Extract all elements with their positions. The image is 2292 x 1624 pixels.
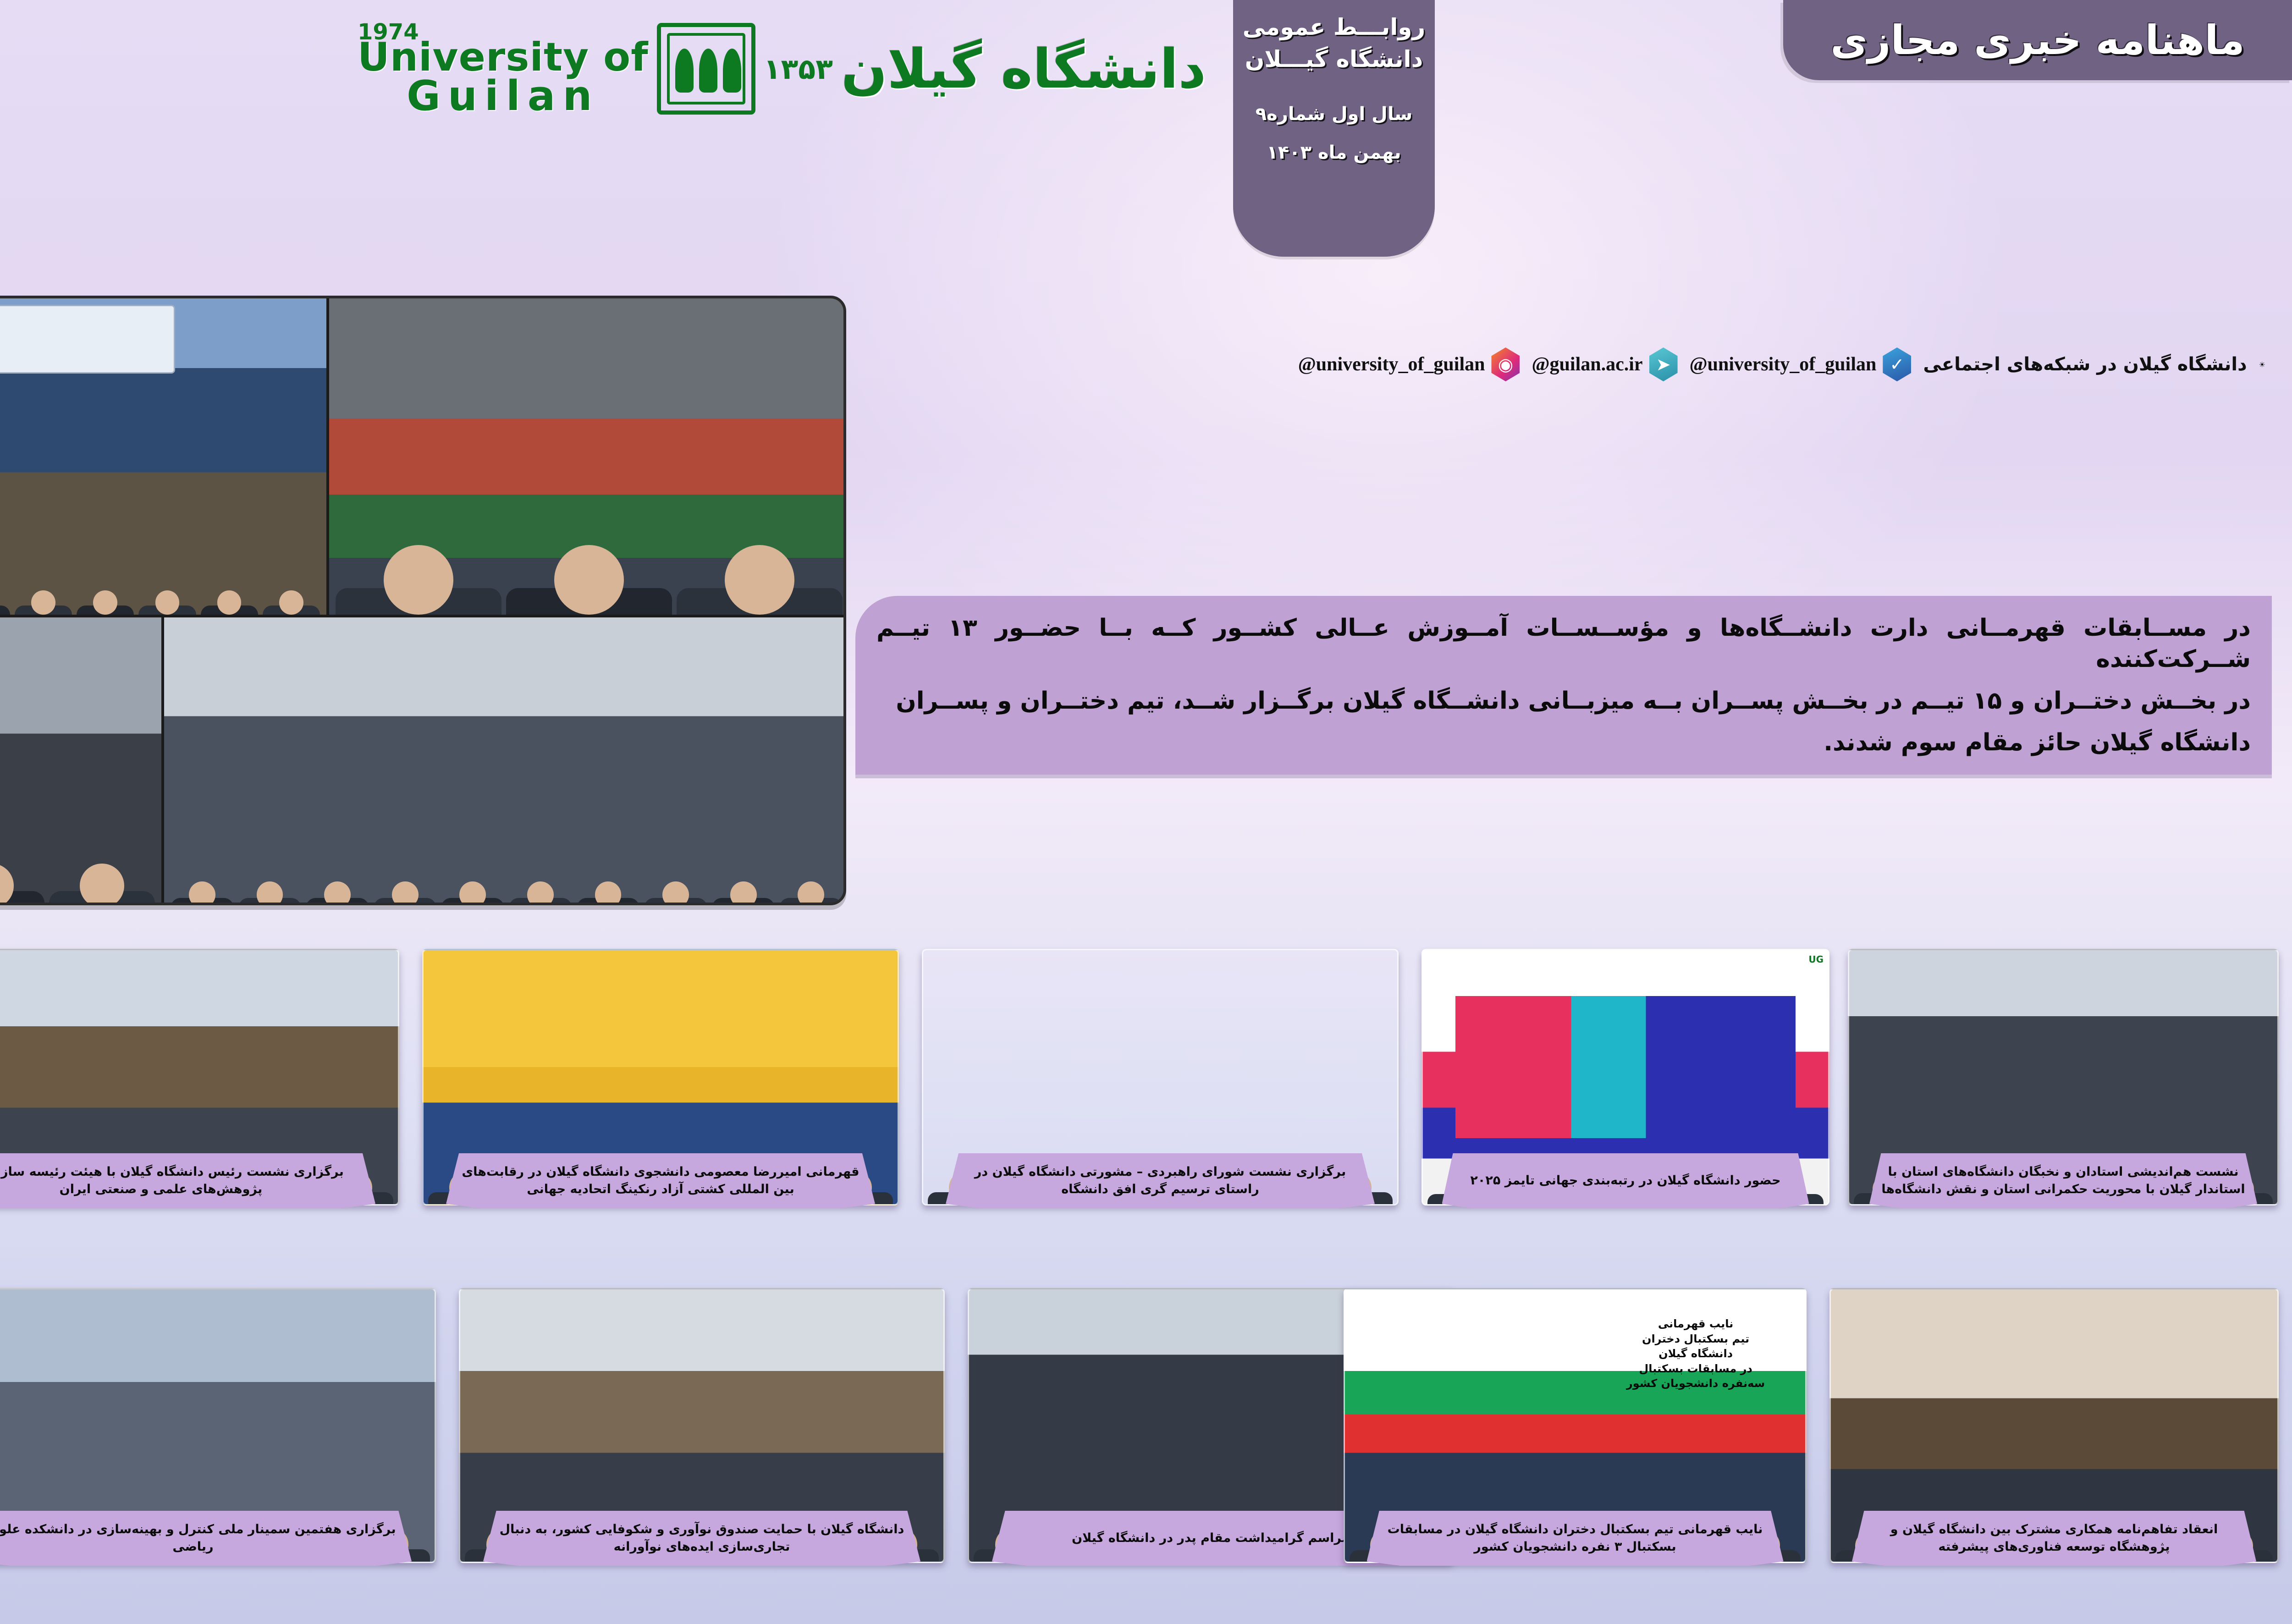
news-card-caption-text: مراسم گرامیداشت مقام پدر در دانشگاه گیلا…	[1072, 1530, 1350, 1547]
telegram-icon: ✓	[1883, 347, 1911, 381]
news-card[interactable]: برگزاری هفتمین سمینار ملی کنترل و بهینه‌…	[0, 1288, 436, 1563]
news-card-overlay: نایب قهرمانیتیم بسکتبال دختراندانشگاه گی…	[1590, 1316, 1802, 1391]
news-card-caption: برگزاری نشست رئیس دانشگاه گیلان با هیئت …	[0, 1153, 375, 1208]
news-card[interactable]: نایب قهرمانیتیم بسکتبال دختراندانشگاه گی…	[1344, 1288, 1807, 1563]
eitaa-handle: @guilan.ac.ir	[1532, 353, 1642, 375]
hero-paragraph-3: دانشگاه گیلان حائز مقام سوم شدند.	[876, 727, 2251, 759]
university-crest-icon	[657, 23, 755, 115]
hero-event-banner	[0, 305, 175, 374]
hero-photo-2	[329, 298, 846, 615]
logo-persian-year: ۱۳۵۳	[764, 52, 833, 86]
hero-paragraph-2: در بخــش دختــران و ۱۵ تیــم در بخــش پس…	[876, 685, 2251, 717]
news-card-overlay-line: دانشگاه گیلان	[1590, 1346, 1802, 1361]
news-card-overlay-line: در مسابقات بسکتبال	[1590, 1361, 1802, 1376]
news-card-caption-text: برگزاری نشست شورای راهبردی – مشورتی دانش…	[953, 1163, 1367, 1199]
news-card-overlay-line: سه‌نفره دانشجویان کشور	[1590, 1376, 1802, 1391]
hero-photo-4	[164, 617, 846, 905]
instagram-handle: @university_of_guilan	[1298, 353, 1485, 375]
news-card-caption: انعقاد تفاهم‌نامه همکاری مشترک بین دانشگ…	[1852, 1511, 2256, 1566]
news-card-caption-text: برگزاری هفتمین سمینار ملی کنترل و بهینه‌…	[0, 1521, 404, 1556]
news-card-caption-text: قهرمانی امیررضا معصومی دانشجوی دانشگاه گ…	[453, 1163, 868, 1199]
hero-photo-collage	[0, 296, 846, 905]
news-card-caption: حضور دانشگاه گیلان در رتبه‌بندی جهانی تا…	[1442, 1153, 1809, 1208]
logo-small-icon: UG	[1808, 954, 1824, 965]
hero-crowd-2	[329, 418, 846, 615]
news-card-caption: قهرمانی امیررضا معصومی دانشجوی دانشگاه گ…	[446, 1153, 875, 1208]
issue-number: سال اول شماره۹	[1256, 104, 1412, 125]
news-card-caption: نشست هم‌اندیشی استادان و نخبگان دانشگاه‌…	[1869, 1153, 2257, 1208]
pr-line-1: روابـــط عمومی	[1243, 14, 1426, 40]
logo-english-line-1: University of	[358, 39, 649, 77]
hero-paragraph-1: در مســابقات قهرمــانی دارت دانشــگاه‌ها…	[876, 612, 2251, 675]
news-card[interactable]: دانشگاه گیلان با حمایت صندوق نوآوری و شک…	[459, 1288, 945, 1563]
news-card[interactable]: برگزاری نشست شورای راهبردی – مشورتی دانش…	[922, 949, 1399, 1206]
news-card[interactable]: برگزاری نشست رئیس دانشگاه گیلان با هیئت …	[0, 949, 399, 1206]
news-card-caption-text: نایب قهرمانی تیم بسکتبال دختران دانشگاه …	[1374, 1521, 1776, 1556]
social-media-bar: ☀ دانشگاه گیلان در شبکه‌های اجتماعی ✓ @u…	[898, 341, 2274, 387]
hero-photo-1	[0, 298, 326, 615]
hero-crowd-1	[0, 418, 326, 615]
issue-date: بهمن ماه ۱۴۰۳	[1267, 142, 1401, 163]
news-card-caption-text: حضور دانشگاه گیلان در رتبه‌بندی جهانی تا…	[1470, 1172, 1780, 1189]
news-card[interactable]: نشست هم‌اندیشی استادان و نخبگان دانشگاه‌…	[1848, 949, 2279, 1206]
globe-icon: ☀	[2259, 360, 2265, 369]
news-card-caption-text: دانشگاه گیلان با حمایت صندوق نوآوری و شک…	[490, 1521, 913, 1556]
news-card-caption: نایب قهرمانی تیم بسکتبال دختران دانشگاه …	[1367, 1511, 1784, 1566]
news-card-caption-text: انعقاد تفاهم‌نامه همکاری مشترک بین دانشگ…	[1859, 1521, 2249, 1556]
news-card-caption: برگزاری نشست شورای راهبردی – مشورتی دانش…	[946, 1153, 1375, 1208]
news-card-overlay-line: تیم بسکتبال دختران	[1590, 1332, 1802, 1346]
social-label: دانشگاه گیلان در شبکه‌های اجتماعی	[1923, 354, 2247, 375]
news-card-caption-text: برگزاری نشست رئیس دانشگاه گیلان با هیئت …	[0, 1163, 368, 1199]
social-account-eitaa[interactable]: ➤ @guilan.ac.ir	[1532, 347, 1677, 381]
news-card[interactable]: UGحضور دانشگاه گیلان در رتبه‌بندی جهانی …	[1421, 949, 1829, 1206]
news-card-caption: برگزاری هفتمین سمینار ملی کنترل و بهینه‌…	[0, 1511, 412, 1566]
social-account-telegram[interactable]: ✓ @university_of_guilan	[1690, 347, 1912, 381]
telegram-handle: @university_of_guilan	[1690, 353, 1877, 375]
logo-persian-name: دانشگاه گیلان	[841, 37, 1206, 100]
logo-english-block: 1974 University of Guilan	[358, 22, 649, 116]
news-card-overlay-line: نایب قهرمانی	[1590, 1316, 1802, 1331]
news-card[interactable]: قهرمانی امیررضا معصومی دانشجوی دانشگاه گ…	[422, 949, 899, 1206]
news-card[interactable]: انعقاد تفاهم‌نامه همکاری مشترک بین دانشگ…	[1829, 1288, 2279, 1563]
news-card-caption-text: نشست هم‌اندیشی استادان و نخبگان دانشگاه‌…	[1877, 1163, 2250, 1199]
page-title: ماهنامه خبری مجازی	[1830, 17, 2245, 64]
news-card-caption: دانشگاه گیلان با حمایت صندوق نوآوری و شک…	[483, 1511, 920, 1566]
hero-photo-3	[0, 617, 161, 905]
newsletter-title-tab: ماهنامه خبری مجازی	[1783, 0, 2292, 80]
hero-crowd-3	[0, 728, 161, 905]
instagram-icon: ◉	[1491, 347, 1520, 381]
hero-article-text: در مســابقات قهرمــانی دارت دانشــگاه‌ها…	[855, 596, 2272, 775]
public-relations-block: روابـــط عمومی دانشگاه گیـــلان سال اول …	[1233, 0, 1435, 257]
social-account-instagram[interactable]: ◉ @university_of_guilan	[1298, 347, 1520, 381]
logo-english-line-2: Guilan	[407, 77, 599, 116]
university-logo: دانشگاه گیلان ۱۳۵۳ 1974 University of Gu…	[358, 14, 1229, 124]
eitaa-icon: ➤	[1649, 347, 1678, 381]
pr-line-2: دانشگاه گیـــلان	[1245, 46, 1423, 72]
hero-crowd-4	[164, 728, 846, 905]
